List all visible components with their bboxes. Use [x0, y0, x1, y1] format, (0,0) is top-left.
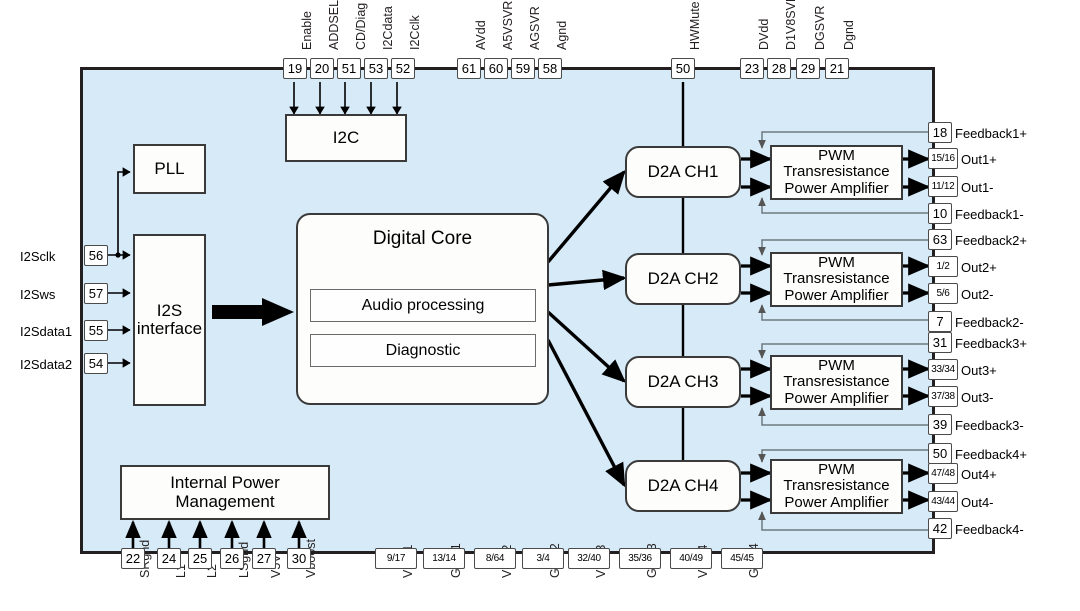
- pin-addsel[interactable]: 20: [310, 58, 334, 79]
- block-i2c-label: I2C: [333, 129, 359, 147]
- pin-i2sclk[interactable]: 56: [84, 245, 108, 266]
- pin-feedback1[interactable]: 10: [928, 203, 952, 224]
- pin-vcc2[interactable]: 8/64: [474, 548, 516, 569]
- pwm2-line2: Transresistance: [783, 271, 889, 287]
- pin-label-feedback4: Feedback4+: [955, 447, 1027, 462]
- block-internal-power-management[interactable]: Internal Power Management: [120, 465, 330, 520]
- pin-gnd2[interactable]: 3/4: [522, 548, 564, 569]
- pin-feedback4[interactable]: 42: [928, 518, 952, 539]
- pin-label-agsvr: AGSVR: [528, 6, 542, 50]
- pin-label-cd-diag: CD/Diag: [354, 3, 368, 50]
- block-pll[interactable]: PLL: [133, 144, 206, 194]
- pin-label-i2cdata: I2Cdata: [381, 6, 395, 50]
- block-i2s-label-line2: interface: [137, 320, 202, 338]
- pin-l2[interactable]: 25: [188, 548, 212, 569]
- block-pll-label: PLL: [154, 160, 184, 178]
- pin-dvdd[interactable]: 23: [740, 58, 764, 79]
- pin-agnd[interactable]: 58: [538, 58, 562, 79]
- block-d2a-ch3[interactable]: D2A CH3: [625, 356, 741, 408]
- pin-lsgnd[interactable]: 26: [220, 548, 244, 569]
- pin-gnd4[interactable]: 45/45: [721, 548, 763, 569]
- pin-avdd[interactable]: 61: [457, 58, 481, 79]
- pwm4-line1: PWM: [818, 462, 855, 478]
- pin-d1v8svr[interactable]: 28: [767, 58, 791, 79]
- pin-out4[interactable]: 43/44: [928, 491, 958, 512]
- pin-out1[interactable]: 15/16: [928, 148, 958, 169]
- block-audio-processing[interactable]: Audio processing: [310, 289, 536, 322]
- block-digital-core-label: Digital Core: [296, 228, 549, 250]
- pin-out4[interactable]: 47/48: [928, 463, 958, 484]
- block-d2a-ch1[interactable]: D2A CH1: [625, 146, 741, 198]
- pin-out3[interactable]: 37/38: [928, 386, 958, 407]
- block-i2c[interactable]: I2C: [285, 114, 407, 162]
- pin-out2[interactable]: 1/2: [928, 256, 958, 277]
- pin-label-dvdd: DVdd: [757, 19, 771, 50]
- pwm3-line2: Transresistance: [783, 374, 889, 390]
- pin-label-feedback3: Feedback3-: [955, 418, 1024, 433]
- block-pwm-amp-4[interactable]: PWM Transresistance Power Amplifier: [770, 459, 903, 514]
- pin-vcc1[interactable]: 9/17: [375, 548, 417, 569]
- pin-i2cdata[interactable]: 53: [364, 58, 388, 79]
- block-audio-processing-label: Audio processing: [362, 297, 485, 314]
- pin-feedback4[interactable]: 50: [928, 443, 952, 464]
- pwm2-line1: PWM: [818, 255, 855, 271]
- block-pwm-amp-2[interactable]: PWM Transresistance Power Amplifier: [770, 252, 903, 307]
- block-d2a-ch2[interactable]: D2A CH2: [625, 253, 741, 305]
- pin-i2sdata2[interactable]: 54: [84, 353, 108, 374]
- pin-label-addsel: ADDSEL: [327, 0, 341, 50]
- pin-out2[interactable]: 5/6: [928, 283, 958, 304]
- pin-label-out3: Out3-: [961, 390, 994, 405]
- pin-label-feedback4: Feedback4-: [955, 522, 1024, 537]
- pin-label-feedback2: Feedback2-: [955, 315, 1024, 330]
- block-diagnostic-label: Diagnostic: [386, 342, 461, 359]
- block-pwm-amp-3[interactable]: PWM Transresistance Power Amplifier: [770, 355, 903, 410]
- pwm1-line1: PWM: [818, 148, 855, 164]
- block-diagram-canvas: I2C PLL I2S interface Digital Core Audio…: [0, 0, 1080, 611]
- pin-label-i2sclk: I2Sclk: [20, 249, 55, 264]
- pin-cd-diag[interactable]: 51: [337, 58, 361, 79]
- pin-label-i2sdata2: I2Sdata2: [20, 357, 72, 372]
- pin-feedback1[interactable]: 18: [928, 122, 952, 143]
- pin-label-out2: Out2+: [961, 260, 997, 275]
- pwm1-line3: Power Amplifier: [784, 181, 888, 197]
- pin-agsvr[interactable]: 59: [511, 58, 535, 79]
- power-mgmt-label-line1: Internal Power: [170, 474, 280, 492]
- pin-srgnd[interactable]: 22: [121, 548, 145, 569]
- pin-label-feedback1: Feedback1-: [955, 207, 1024, 222]
- pin-label-i2cclk: I2Cclk: [408, 15, 422, 50]
- pin-label-d1v8svr: D1V8SVR: [784, 0, 798, 50]
- pin-dgnd[interactable]: 21: [825, 58, 849, 79]
- pin-vboost[interactable]: 30: [287, 548, 311, 569]
- pin-label-out4: Out4-: [961, 495, 994, 510]
- pin-label-i2sdata1: I2Sdata1: [20, 324, 72, 339]
- pin-label-dgsvr: DGSVR: [813, 6, 827, 50]
- pin-label-agnd: Agnd: [555, 21, 569, 50]
- block-i2s-label-line1: I2S: [157, 302, 183, 320]
- pin-enable[interactable]: 19: [283, 58, 307, 79]
- pin-label-feedback2: Feedback2+: [955, 233, 1027, 248]
- pin-feedback3[interactable]: 39: [928, 414, 952, 435]
- block-d2a-ch4-label: D2A CH4: [648, 477, 719, 495]
- pin-feedback2[interactable]: 63: [928, 229, 952, 250]
- pin-dgsvr[interactable]: 29: [796, 58, 820, 79]
- pin-vcc4[interactable]: 40/49: [670, 548, 712, 569]
- pwm4-line3: Power Amplifier: [784, 495, 888, 511]
- pin-i2sws[interactable]: 57: [84, 283, 108, 304]
- pin-vcc3[interactable]: 32/40: [568, 548, 610, 569]
- pin-label-dgnd: Dgnd: [842, 20, 856, 50]
- block-d2a-ch2-label: D2A CH2: [648, 270, 719, 288]
- pwm4-line2: Transresistance: [783, 478, 889, 494]
- pin-label-feedback1: Feedback1+: [955, 126, 1027, 141]
- pin-feedback2[interactable]: 7: [928, 311, 952, 332]
- pin-label-avdd: AVdd: [474, 20, 488, 50]
- pin-label-out3: Out3+: [961, 363, 997, 378]
- pin-label-a5vsvr: A5VSVR: [501, 1, 515, 50]
- pin-label-enable: Enable: [300, 11, 314, 50]
- pwm3-line3: Power Amplifier: [784, 391, 888, 407]
- pin-label-feedback3: Feedback3+: [955, 336, 1027, 351]
- pin-label-i2sws: I2Sws: [20, 287, 55, 302]
- block-diagnostic[interactable]: Diagnostic: [310, 334, 536, 367]
- pin-gnd3[interactable]: 35/36: [619, 548, 661, 569]
- pin-label-out1: Out1+: [961, 152, 997, 167]
- pwm2-line3: Power Amplifier: [784, 288, 888, 304]
- pin-out3[interactable]: 33/34: [928, 359, 958, 380]
- block-i2s-interface[interactable]: I2S interface: [133, 234, 206, 406]
- pin-hwmute[interactable]: 50: [671, 58, 695, 79]
- block-d2a-ch1-label: D2A CH1: [648, 163, 719, 181]
- block-d2a-ch4[interactable]: D2A CH4: [625, 460, 741, 512]
- pin-l1[interactable]: 24: [157, 548, 181, 569]
- pin-out1[interactable]: 11/12: [928, 176, 958, 197]
- pin-label-out2: Out2-: [961, 287, 994, 302]
- block-pwm-amp-1[interactable]: PWM Transresistance Power Amplifier: [770, 145, 903, 200]
- pin-gnd1[interactable]: 13/14: [423, 548, 465, 569]
- pin-i2cclk[interactable]: 52: [391, 58, 415, 79]
- pwm1-line2: Transresistance: [783, 164, 889, 180]
- pin-label-out1: Out1-: [961, 180, 994, 195]
- pin-label-out4: Out4+: [961, 467, 997, 482]
- pin-v5v[interactable]: 27: [252, 548, 276, 569]
- pin-i2sdata1[interactable]: 55: [84, 320, 108, 341]
- power-mgmt-label-line2: Management: [175, 493, 274, 511]
- pwm3-line1: PWM: [818, 358, 855, 374]
- pin-label-hwmute: HWMute: [688, 1, 702, 50]
- pin-feedback3[interactable]: 31: [928, 332, 952, 353]
- block-d2a-ch3-label: D2A CH3: [648, 373, 719, 391]
- pin-a5vsvr[interactable]: 60: [484, 58, 508, 79]
